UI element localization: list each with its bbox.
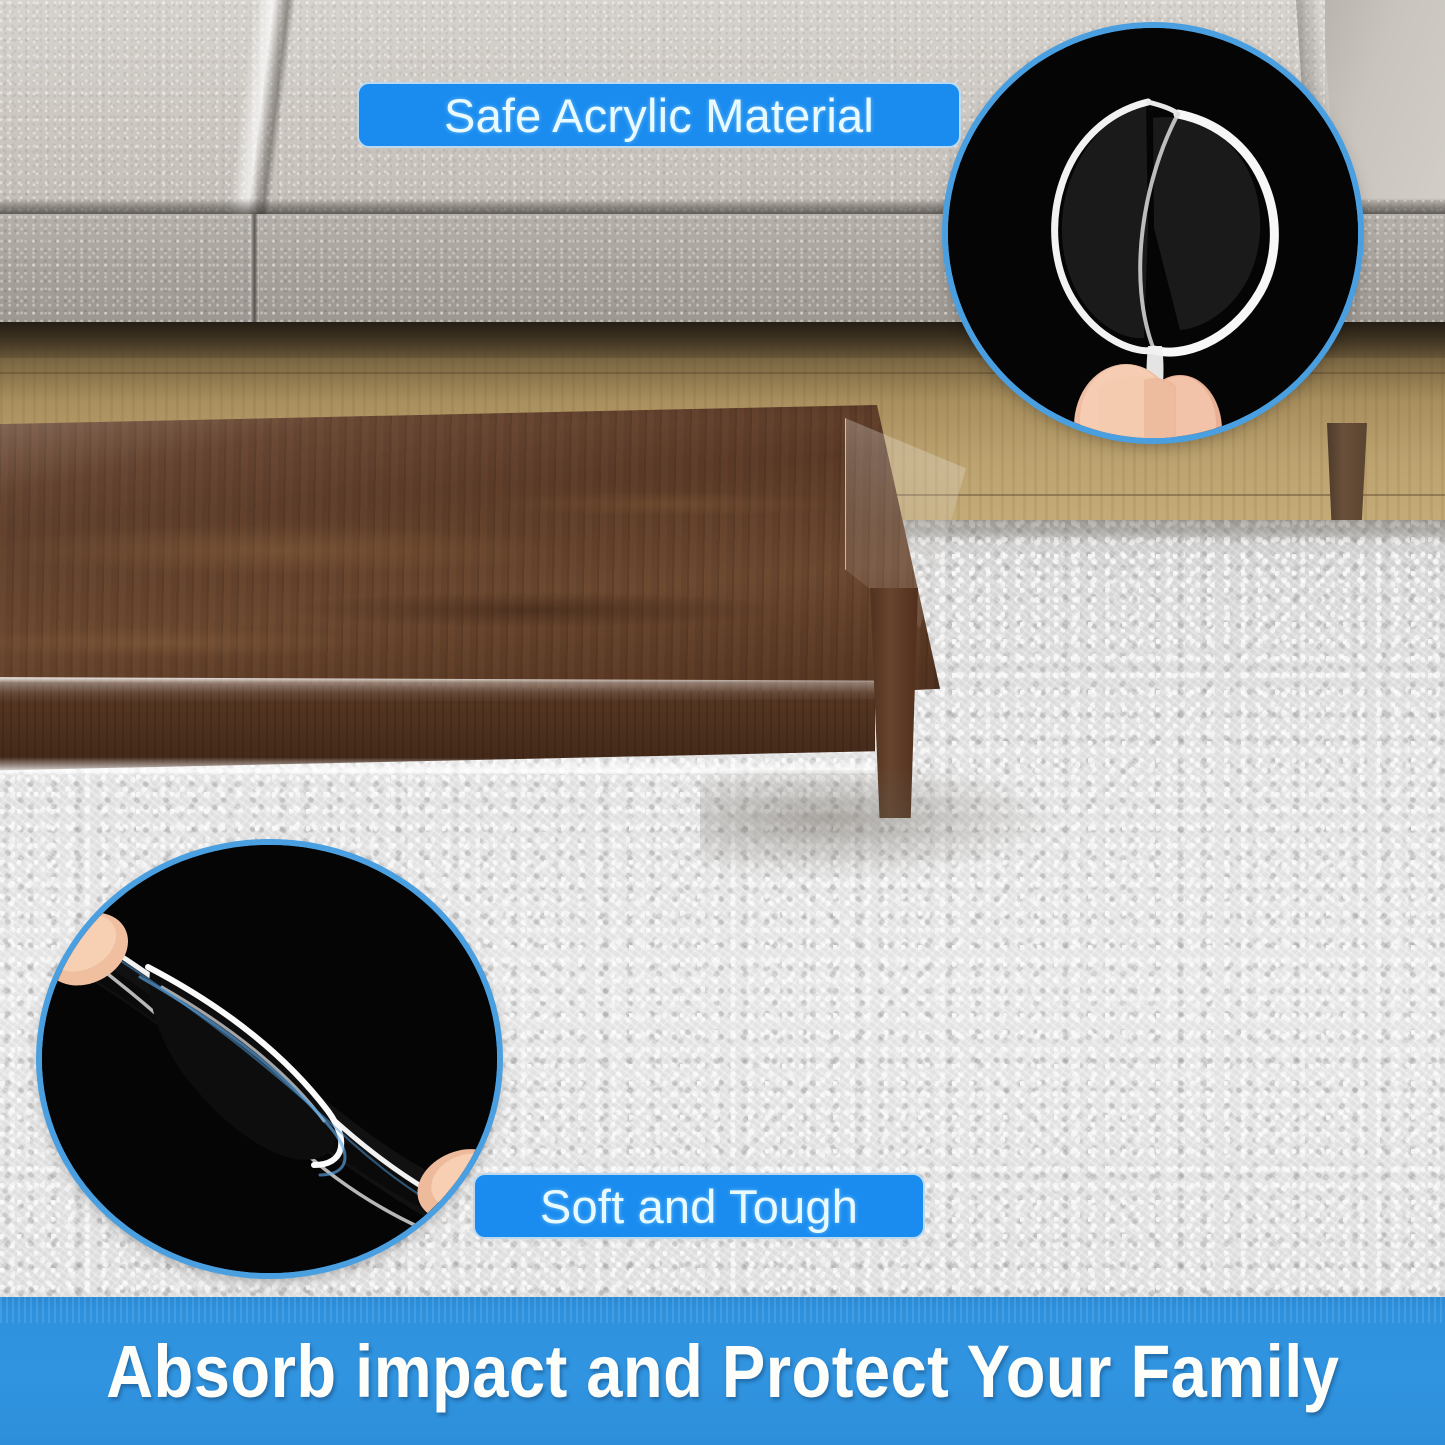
acrylic-cover-front-bevel: [0, 677, 885, 703]
badge-soft-and-tough: Soft and Tough: [473, 1173, 925, 1239]
twist-film-illustration: [42, 845, 497, 1273]
product-marketing-image: Safe Acrylic Material Soft and Tough Abs…: [0, 0, 1445, 1445]
banner-headline: Absorb impact and Protect Your Family: [106, 1329, 1339, 1414]
inset-flex-loop: [948, 28, 1358, 438]
badge-label: Soft and Tough: [540, 1179, 858, 1234]
banner-top-texture: [0, 1297, 1445, 1323]
badge-label: Safe Acrylic Material: [444, 88, 874, 143]
sofa-seat-seam: [250, 214, 259, 326]
inset-twist-film: [42, 845, 497, 1273]
bottom-banner: Absorb impact and Protect Your Family: [0, 1297, 1445, 1445]
badge-safe-acrylic-material: Safe Acrylic Material: [357, 82, 961, 148]
flex-loop-illustration: [948, 28, 1358, 438]
table-shadow: [700, 770, 1060, 880]
